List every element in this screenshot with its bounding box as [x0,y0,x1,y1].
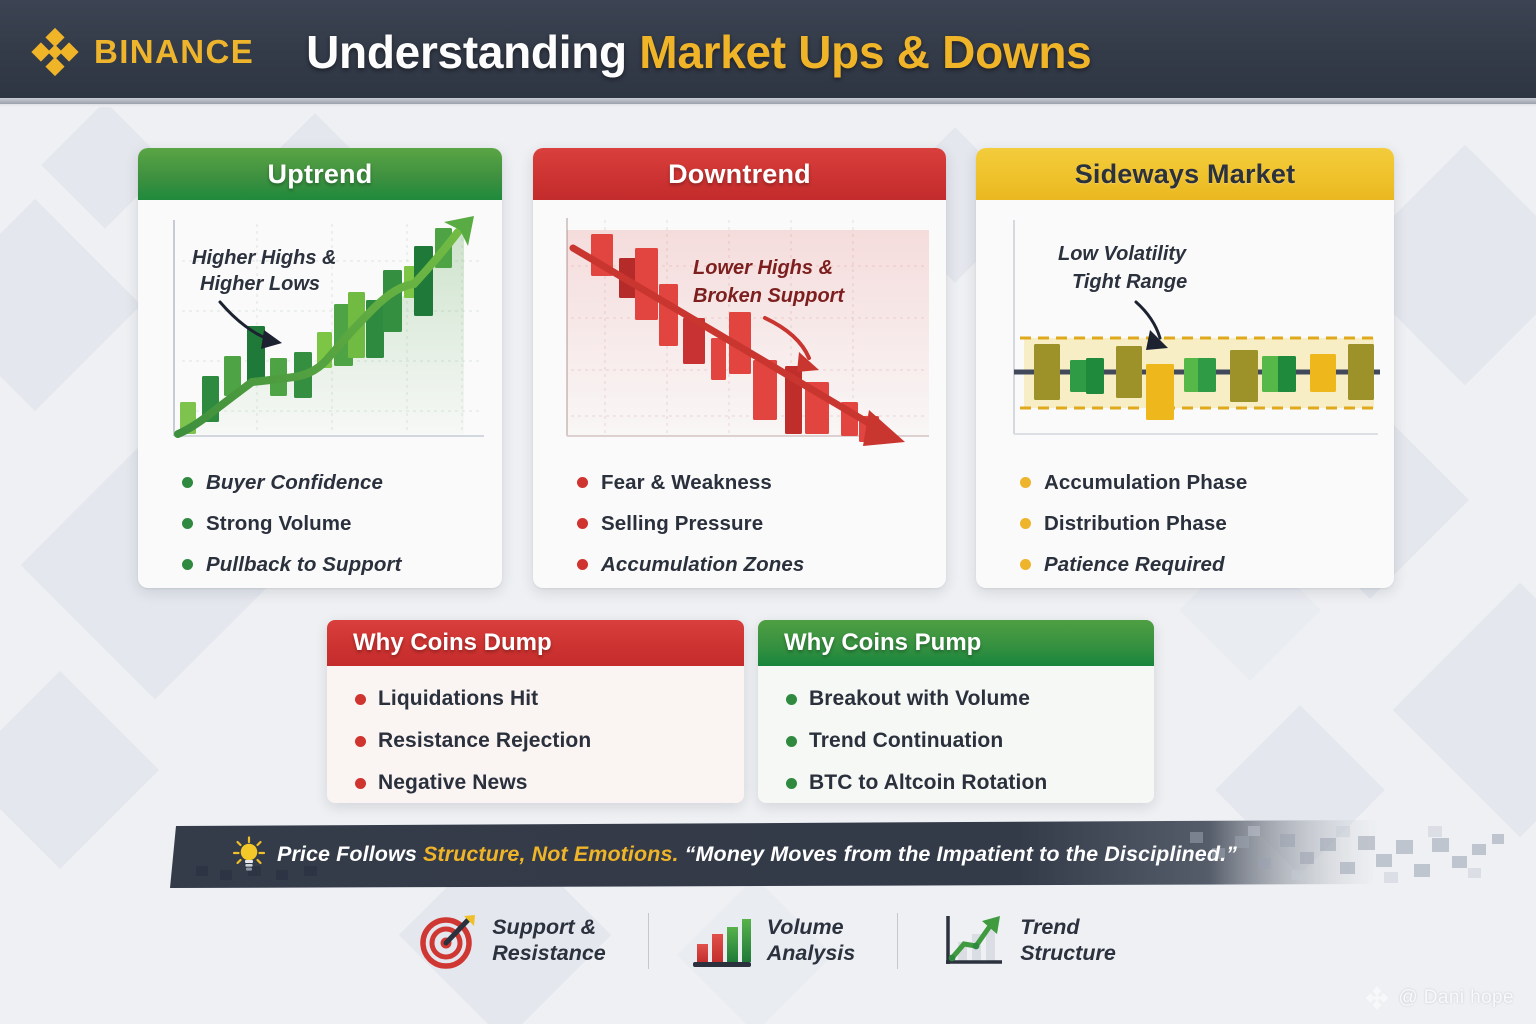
feature-trend-structure: Trend Structure [940,912,1116,970]
feature-support-resistance: Support & Resistance [420,912,606,970]
bullet-dot-icon [577,518,588,529]
sideways-annotation-line1: Low Volatility [1058,243,1187,265]
bullet-label: Pullback to Support [206,553,402,577]
feature-label-line2: Resistance [492,941,606,967]
list-item: Buyer Confidence [182,462,502,503]
downtrend-annotation-line2: Broken Support [693,285,845,307]
feature-label-line1: Support & [492,915,606,941]
feature-label: Volume Analysis [767,915,855,967]
bullet-dot-icon [786,778,797,789]
list-item: Strong Volume [182,503,502,544]
card-sideways-bullets: Accumulation Phase Distribution Phase Pa… [976,448,1394,585]
quote-banner-content: Price Follows Structure, Not Emotions. “… [232,835,1237,873]
bullet-label: Buyer Confidence [206,471,383,495]
list-item: Breakout with Volume [786,678,1154,720]
brand-logo: BINANCE [30,27,254,77]
bullet-label: Selling Pressure [601,512,763,536]
feature-label-line1: Trend [1020,915,1116,941]
list-item: Pullback to Support [182,544,502,585]
feature-label: Support & Resistance [492,915,606,967]
bullet-label: Resistance Rejection [378,729,591,753]
card-sideways-title: Sideways Market [976,148,1394,200]
sideways-annotation-line2: Tight Range [1072,271,1187,293]
panel-why-coins-pump-title: Why Coins Pump [758,620,1154,666]
uptrend-annotation-line2: Higher Lows [200,273,320,295]
list-item: Trend Continuation [786,720,1154,762]
bullet-label: BTC to Altcoin Rotation [809,771,1047,795]
bullet-dot-icon [577,559,588,570]
list-item: Patience Required [1020,544,1394,585]
binance-diamond-logo [1365,986,1389,1010]
bullet-dot-icon [182,477,193,488]
bullet-label: Accumulation Phase [1044,471,1247,495]
bullet-dot-icon [1020,559,1031,570]
list-item: Selling Pressure [577,503,946,544]
downtrend-annotation-line1: Lower Highs & [693,257,833,279]
panel-why-coins-dump: Why Coins Dump Liquidations Hit Resistan… [327,620,744,803]
bullet-dot-icon [1020,477,1031,488]
bullet-label: Fear & Weakness [601,471,772,495]
brand-name: BINANCE [94,33,254,71]
bullet-label: Strong Volume [206,512,352,536]
footer-features: Support & Resistance Volume Analysis [0,893,1536,988]
binance-diamond-logo [30,27,80,77]
bullet-label: Distribution Phase [1044,512,1227,536]
header-divider [0,104,1536,107]
feature-label-line1: Volume [767,915,855,941]
bullet-dot-icon [355,736,366,747]
bullet-dot-icon [786,736,797,747]
list-item: Accumulation Zones [577,544,946,585]
card-downtrend-title: Downtrend [533,148,946,200]
card-uptrend-bullets: Buyer Confidence Strong Volume Pullback … [138,448,502,585]
page-title-main: Understanding [306,26,639,78]
list-item: BTC to Altcoin Rotation [786,762,1154,803]
panel-why-coins-pump-bullets: Breakout with Volume Trend Continuation … [758,666,1154,803]
card-uptrend-title: Uptrend [138,148,502,200]
bullet-dot-icon [355,694,366,705]
uptrend-annotation-line1: Higher Highs & [192,247,336,269]
uptrend-chart: Higher Highs & Higher Lows [138,200,502,448]
target-dart-icon [420,912,478,970]
list-item: Fear & Weakness [577,462,946,503]
list-item: Resistance Rejection [355,720,744,762]
bullet-label: Accumulation Zones [601,553,804,577]
lightbulb-icon [232,836,266,872]
bullet-label: Patience Required [1044,553,1225,577]
quote-highlight: Structure, Not Emotions. [423,842,679,866]
bullet-label: Negative News [378,771,528,795]
card-uptrend: Uptrend [138,148,502,588]
bar-chart-icon [691,912,753,970]
page-title: Understanding Market Ups & Downs [306,25,1091,79]
list-item: Negative News [355,762,744,803]
quote-part2: “Money Moves from the Impatient to the D… [679,842,1237,866]
page-header: BINANCE Understanding Market Ups & Downs [0,0,1536,104]
quote-part1: Price Follows [277,842,423,866]
bullet-dot-icon [577,477,588,488]
bullet-dot-icon [1020,518,1031,529]
footer-divider [648,913,649,969]
list-item: Accumulation Phase [1020,462,1394,503]
trend-up-chart-icon [940,912,1006,970]
page-title-accent: Market Ups & Downs [639,26,1091,78]
list-item: Distribution Phase [1020,503,1394,544]
list-item: Liquidations Hit [355,678,744,720]
panel-why-coins-dump-title: Why Coins Dump [327,620,744,666]
feature-volume-analysis: Volume Analysis [691,912,855,970]
sideways-chart: Low Volatility Tight Range [976,200,1394,448]
feature-label: Trend Structure [1020,915,1116,967]
bullet-label: Breakout with Volume [809,687,1030,711]
bullet-dot-icon [786,694,797,705]
card-sideways: Sideways Market [976,148,1394,588]
downtrend-chart: Lower Highs & Broken Support [533,200,946,448]
feature-label-line2: Analysis [767,941,855,967]
bullet-dot-icon [182,559,193,570]
card-downtrend-bullets: Fear & Weakness Selling Pressure Accumul… [533,448,946,585]
feature-label-line2: Structure [1020,941,1116,967]
quote-text: Price Follows Structure, Not Emotions. “… [277,842,1237,867]
bullet-label: Trend Continuation [809,729,1003,753]
bullet-dot-icon [355,778,366,789]
bullet-label: Liquidations Hit [378,687,538,711]
bullet-dot-icon [182,518,193,529]
panel-why-coins-dump-bullets: Liquidations Hit Resistance Rejection Ne… [327,666,744,803]
card-downtrend: Downtrend [533,148,946,588]
footer-divider [897,913,898,969]
watermark-handle: @ Dani hope [1398,987,1514,1009]
watermark: @ Dani hope [1365,986,1514,1010]
panel-why-coins-pump: Why Coins Pump Breakout with Volume Tren… [758,620,1154,803]
